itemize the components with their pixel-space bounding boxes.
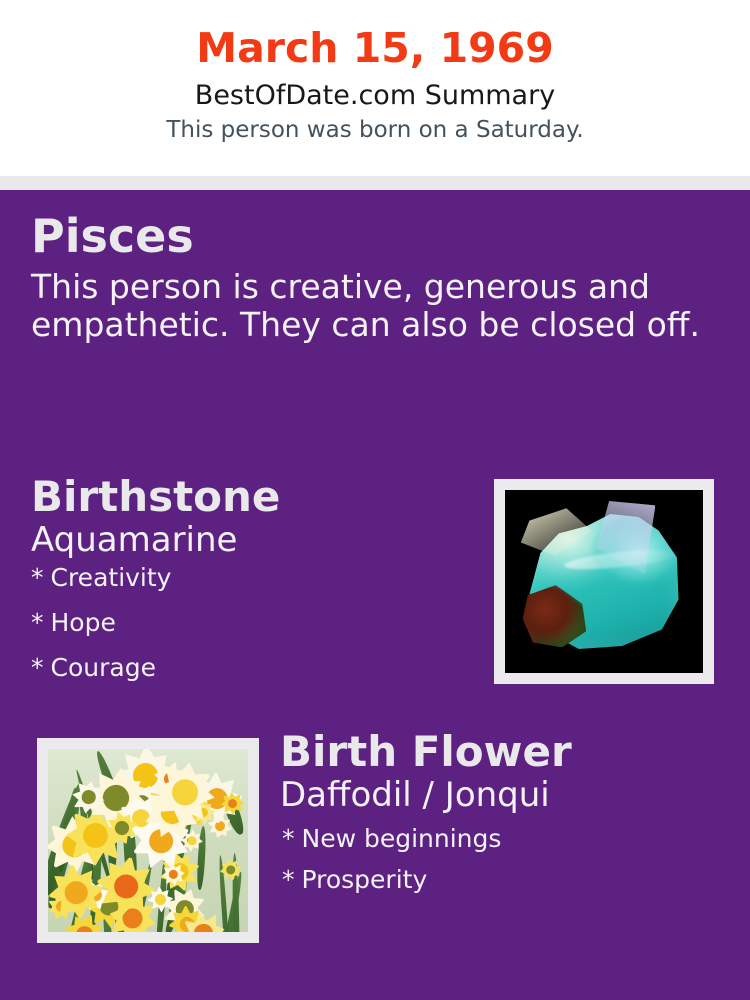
bloom-center [168,869,179,880]
birthflower-trait-list: *New beginnings *Prosperity [280,814,740,908]
bloom-center [112,819,130,837]
bloom-center [170,778,200,808]
zodiac-description: This person is creative, generous and em… [31,262,706,345]
details-panel: Pisces This person is creative, generous… [0,190,750,1000]
birthstone-trait-label: Hope [51,608,116,637]
list-item: *Creativity [31,565,471,610]
birthflower-title: Birth Flower [280,730,740,774]
birthstone-title: Birthstone [31,475,471,519]
asterisk-icon: * [31,655,51,680]
header-divider [0,176,750,190]
bloom-center [73,923,96,932]
bloom-center [186,835,199,848]
zodiac-section: Pisces This person is creative, generous… [31,212,721,344]
birthflower-section: Birth Flower Daffodil / Jonqui *New begi… [280,730,740,908]
asterisk-icon: * [31,565,51,590]
birthstone-name: Aquamarine [31,519,471,559]
birthstone-image-frame [494,479,714,684]
bloom-center [60,876,92,908]
list-item: *Prosperity [280,867,740,908]
birthflower-image-frame [37,738,259,943]
birthflower-image [48,749,248,932]
asterisk-icon: * [282,867,302,892]
birthflower-trait-label: Prosperity [302,865,428,894]
birth-day-note: This person was born on a Saturday. [0,111,750,143]
site-name: BestOfDate.com Summary [0,72,750,111]
asterisk-icon: * [282,826,302,851]
birthflower-name: Daffodil / Jonqui [280,774,740,814]
list-item: *New beginnings [280,826,740,867]
asterisk-icon: * [31,610,51,635]
bloom-center [109,869,143,903]
birthstone-section: Birthstone Aquamarine *Creativity *Hope … [31,475,471,700]
aquamarine-crystal-icon [505,490,703,673]
bloom-center [224,864,236,876]
summary-card: March 15, 1969 BestOfDate.com Summary Th… [0,0,750,1000]
birthstone-trait-label: Creativity [51,563,172,592]
bloom-center [193,923,214,932]
bloom-center [80,790,96,806]
bloom-center [153,892,168,907]
birthstone-image [505,490,703,673]
daffodil-flowers-icon [48,749,248,932]
birthflower-trait-label: New beginnings [302,824,502,853]
birthstone-trait-list: *Creativity *Hope *Courage [31,559,471,700]
card-header: March 15, 1969 BestOfDate.com Summary Th… [0,0,750,176]
list-item: *Courage [31,655,471,700]
birthstone-trait-label: Courage [51,653,156,682]
list-item: *Hope [31,610,471,655]
bloom-center [227,798,237,808]
page-title: March 15, 1969 [0,0,750,72]
zodiac-sign-title: Pisces [31,212,721,262]
